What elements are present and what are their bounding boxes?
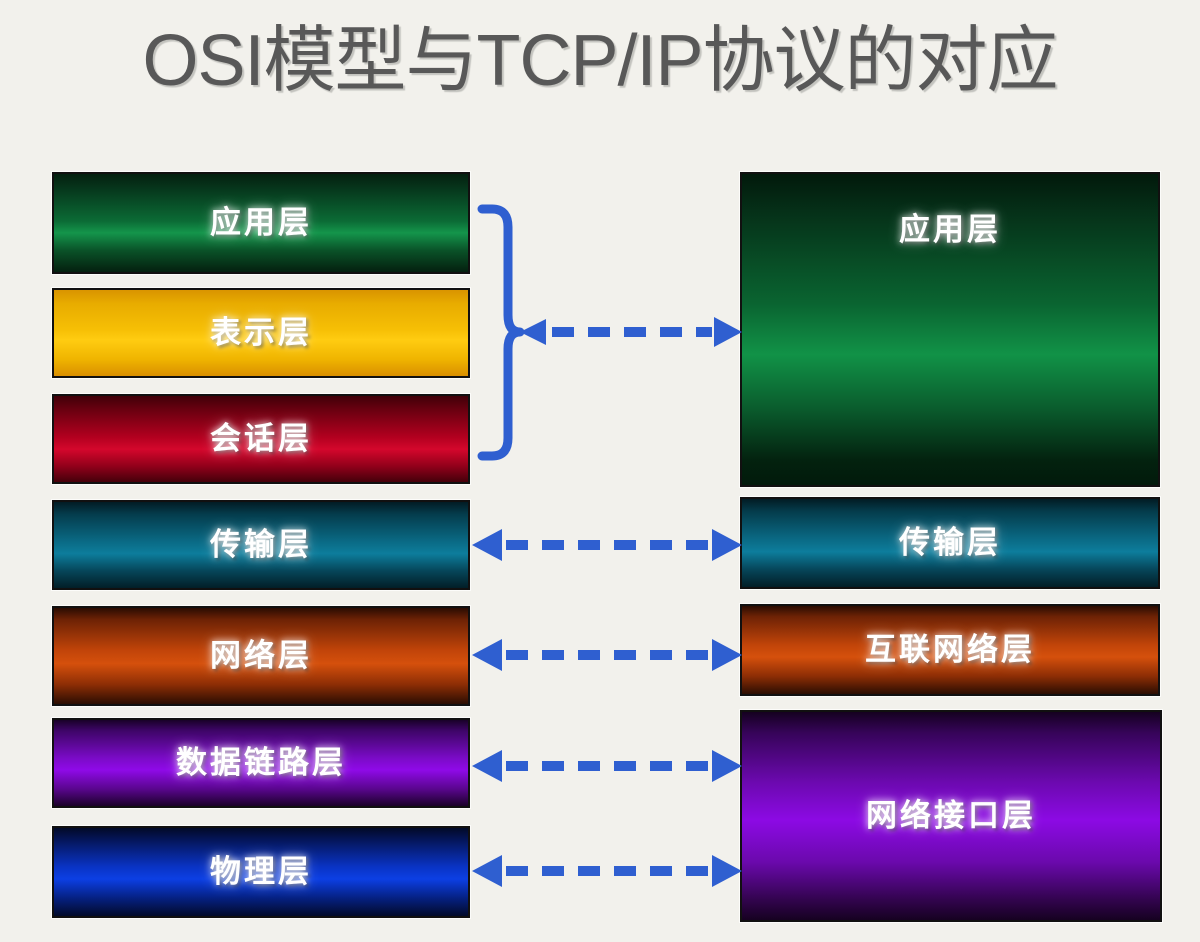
tcpip-layer-network-interface[interactable]: 网络接口层 [740, 710, 1162, 922]
osi-layer-transport-label: 传输层 [54, 527, 468, 563]
connector-transport [470, 515, 744, 575]
arrowhead-right-icon [712, 855, 742, 887]
osi-layer-transport[interactable]: 传输层 [52, 500, 470, 590]
osi-layer-application-label: 应用层 [54, 205, 468, 241]
tcpip-layer-network-interface-label: 网络接口层 [742, 798, 1160, 834]
osi-layer-physical-label: 物理层 [54, 854, 468, 890]
tcpip-layer-application[interactable]: 应用层 [740, 172, 1160, 487]
page-title: OSI模型与TCP/IP协议的对应 [0, 18, 1200, 104]
osi-layer-data-link-label: 数据链路层 [54, 745, 468, 781]
arrowhead-right-icon [714, 317, 742, 347]
tcpip-layer-transport[interactable]: 传输层 [740, 497, 1160, 589]
tcpip-layer-internet[interactable]: 互联网络层 [740, 604, 1160, 696]
connector-data-link [470, 736, 744, 796]
arrowhead-left-icon [472, 639, 502, 671]
slide-canvas: OSI模型与TCP/IP协议的对应 应用层 表示层 会话层 传输层 网络层 数据… [0, 0, 1200, 942]
arrowhead-left-icon [472, 750, 502, 782]
tcpip-layer-transport-label: 传输层 [742, 525, 1158, 561]
osi-layer-data-link[interactable]: 数据链路层 [52, 718, 470, 808]
connector-network-svg [470, 625, 744, 685]
osi-layer-network-label: 网络层 [54, 638, 468, 674]
arrowhead-left-icon [472, 855, 502, 887]
connector-physical [470, 841, 744, 901]
tcpip-layer-internet-label: 互联网络层 [742, 632, 1158, 668]
connector-network [470, 625, 744, 685]
arrowhead-right-icon [712, 750, 742, 782]
connector-data-link-svg [470, 736, 744, 796]
arrowhead-left-icon [472, 529, 502, 561]
arrowhead-right-icon [712, 529, 742, 561]
arrowhead-left-icon [520, 319, 546, 345]
osi-layer-session-label: 会话层 [54, 421, 468, 457]
connector-application-group-svg [470, 195, 744, 470]
brace-icon [482, 209, 520, 456]
connector-physical-svg [470, 841, 744, 901]
arrowhead-right-icon [712, 639, 742, 671]
connector-transport-svg [470, 515, 744, 575]
osi-layer-network[interactable]: 网络层 [52, 606, 470, 706]
osi-layer-application[interactable]: 应用层 [52, 172, 470, 274]
tcpip-layer-application-label: 应用层 [742, 212, 1158, 248]
osi-layer-physical[interactable]: 物理层 [52, 826, 470, 918]
connector-application-group [470, 195, 744, 470]
osi-layer-session[interactable]: 会话层 [52, 394, 470, 484]
osi-layer-presentation[interactable]: 表示层 [52, 288, 470, 378]
osi-layer-presentation-label: 表示层 [54, 315, 468, 351]
